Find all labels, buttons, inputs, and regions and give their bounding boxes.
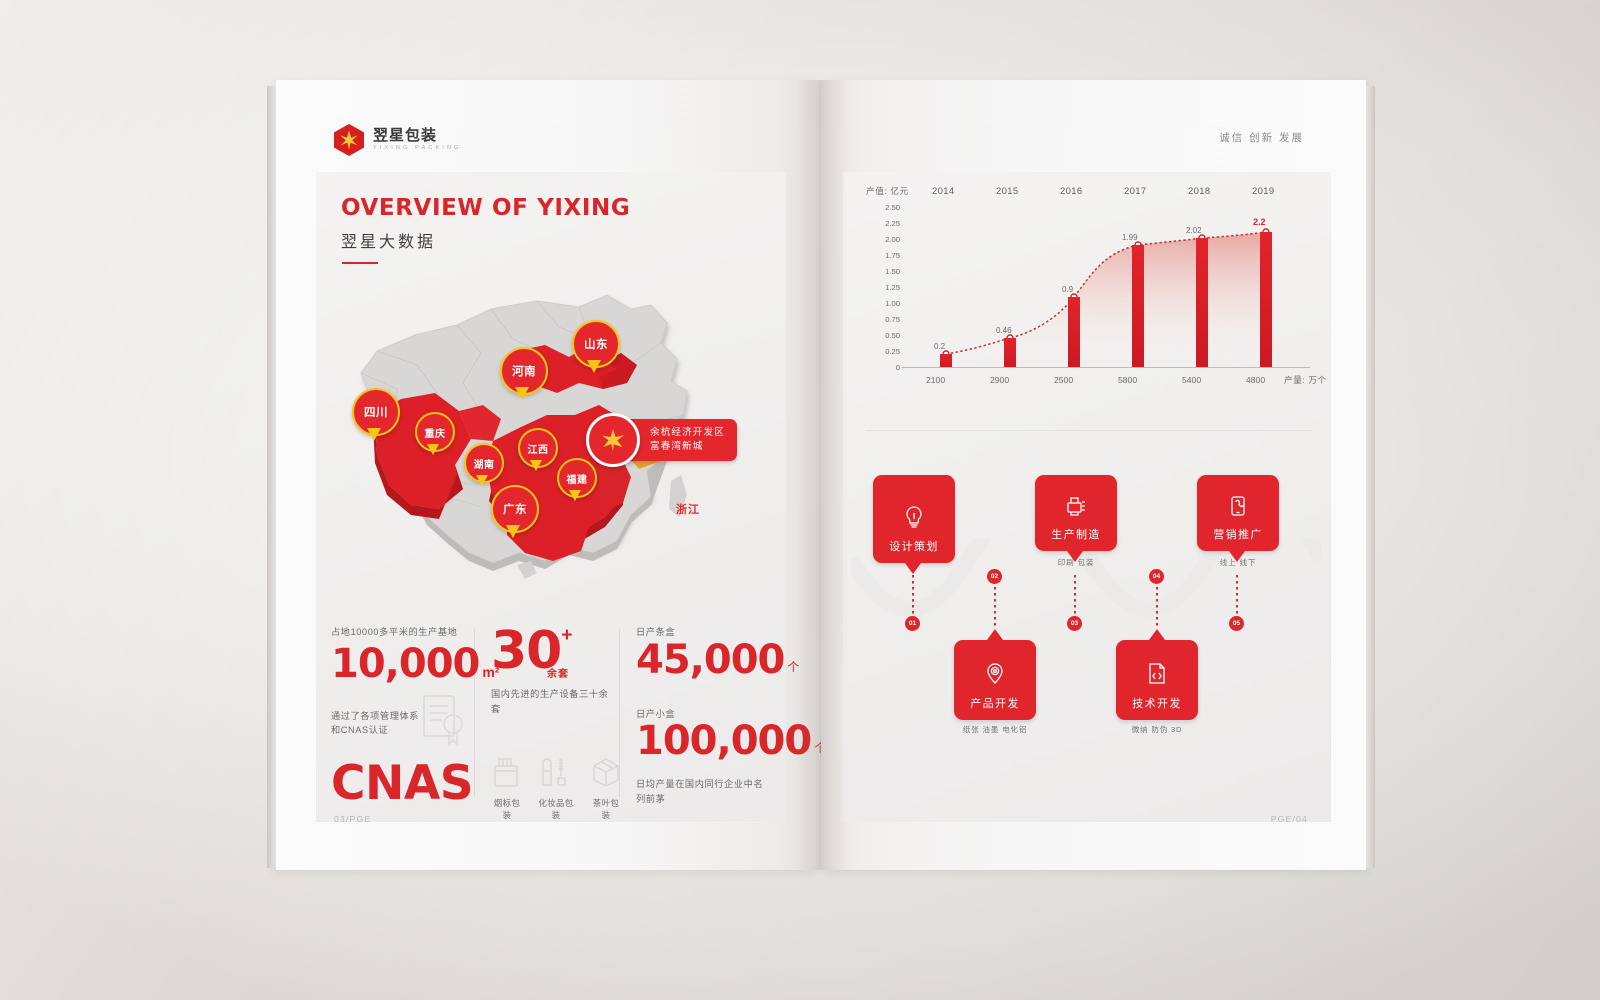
chart-plot-area — [906, 207, 1304, 367]
lipstick-icon — [537, 754, 575, 788]
hq-line-2: 富春湾新城 — [650, 440, 725, 454]
section-divider — [866, 430, 1311, 431]
chart-trend-svg — [906, 207, 1304, 367]
process-number-03: 03 — [1067, 616, 1082, 631]
pin-label: 江西 — [528, 441, 549, 456]
process-label: 设计策划 — [889, 538, 939, 563]
output-footnote: 日均产量在国内同行企业中名列前茅 — [636, 777, 771, 806]
title-underline — [342, 262, 378, 264]
process-connector-05 — [1236, 575, 1238, 617]
china-distribution-map[interactable]: 山东 河南 四川 重庆 湖南 江西 — [331, 265, 761, 610]
chart-year-2018: 2018 — [1188, 185, 1210, 196]
pin-label: 河南 — [512, 363, 536, 379]
chart-value-label-2016: 0.9 — [1062, 285, 1073, 294]
ytick-1-00: 1.00 — [866, 299, 900, 308]
product-item-cosmetic: 化妆品包装 — [537, 754, 575, 821]
process-connector-02 — [994, 587, 996, 629]
process-label: 产品开发 — [970, 695, 1020, 720]
process-label: 生产制造 — [1051, 526, 1101, 551]
location-star-icon — [586, 413, 640, 467]
product-item-tea: 茶叶包装 — [589, 754, 623, 821]
chart-output-2019: 4800 — [1246, 375, 1265, 385]
ytick-2-50: 2.50 — [866, 203, 900, 212]
cnas-badge: CNAS — [331, 760, 467, 807]
chart-output-2018: 5400 — [1182, 375, 1201, 385]
chart-ylabel: 产值: 亿元 — [866, 185, 909, 197]
map-pin-shandong[interactable]: 山东 — [572, 320, 616, 372]
pin-label: 四川 — [364, 404, 388, 420]
chart-value-label-2014: 0.2 — [934, 342, 945, 351]
chart-value-label-2018: 2.02 — [1186, 226, 1202, 235]
stat-unit-equipment: 余套 — [547, 665, 613, 680]
target-location-icon — [984, 662, 1006, 691]
hq-line-1: 余杭经济开发区 — [650, 426, 725, 440]
chart-year-2015: 2015 — [996, 185, 1018, 196]
stat-value-area: 10,000 — [331, 644, 479, 684]
chart-year-2016: 2016 — [1060, 185, 1082, 196]
product-label: 茶叶包装 — [589, 797, 623, 821]
brand-name-cn: 翌星包装 — [373, 128, 461, 143]
pin-label: 福建 — [567, 471, 588, 486]
chart-baseline — [902, 367, 1310, 368]
process-label: 技术开发 — [1132, 695, 1182, 720]
stat-superscript-plus: + — [561, 625, 572, 647]
output-unit-2: 个 — [814, 739, 821, 761]
hq-plate: 余杭经济开发区 富春湾新城 — [624, 419, 737, 461]
process-step-01[interactable]: 设计策划 — [873, 475, 955, 563]
stat-caption-equipment: 国内先进的生产设备三十余套 — [491, 687, 613, 716]
chart-year-2017: 2017 — [1124, 185, 1146, 196]
process-step-05[interactable]: 营销推广 — [1197, 475, 1279, 551]
map-pin-guangdong[interactable]: 广东 — [491, 485, 535, 537]
pin-label: 山东 — [584, 336, 608, 352]
process-number-05: 05 — [1229, 616, 1244, 631]
chart-value-label-2019: 2.2 — [1253, 217, 1266, 227]
process-step-02[interactable]: 产品开发 — [954, 640, 1036, 720]
pin-label: 湖南 — [474, 456, 495, 471]
output-unit-1: 个 — [787, 658, 799, 680]
chart-output-2015: 2900 — [990, 375, 1009, 385]
ytick-0-75: 0.75 — [866, 315, 900, 324]
output-value-2: 100,000 — [636, 721, 811, 761]
map-pin-chongqing[interactable]: 重庆 — [415, 412, 451, 456]
map-pin-henan[interactable]: 河南 — [500, 347, 544, 399]
process-number-04: 04 — [1149, 569, 1164, 584]
stat-card-output: 日产条盒 45,000 个 日产小盒 100,000 个 日均产量在国内同行企业… — [636, 625, 771, 807]
chart-output-2016: 2500 — [1054, 375, 1073, 385]
ytick-1-75: 1.75 — [866, 251, 900, 260]
hq-callout[interactable]: 余杭经济开发区 富春湾新城 — [586, 413, 737, 467]
ytick-0-50: 0.50 — [866, 331, 900, 340]
process-sub-05: 线上 线下 — [1197, 557, 1279, 568]
chart-year-2014: 2014 — [932, 185, 954, 196]
magazine-spread: 翌星包装 YIXING PACKING OVERVIEW OF YIXING 翌… — [276, 80, 1366, 870]
page-title-cn: 翌星大数据 — [341, 228, 436, 252]
pin-label: 重庆 — [425, 425, 446, 440]
process-step-03[interactable]: 生产制造 — [1035, 475, 1117, 551]
stat-card-equipment: 30 + 余套 国内先进的生产设备三十余套 — [491, 625, 613, 821]
chart-value-label-2015: 0.46 — [996, 326, 1012, 335]
certificate-icon — [419, 693, 471, 747]
ytick-0-25: 0.25 — [866, 347, 900, 356]
process-sub-03: 印刷 包装 — [1035, 557, 1117, 568]
header-slogan: 诚信 创新 发展 — [1219, 130, 1304, 145]
product-label: 烟标包装 — [491, 797, 523, 821]
right-page-edge — [1366, 86, 1375, 868]
map-pin-jiangxi[interactable]: 江西 — [518, 428, 554, 472]
star-glyph — [339, 129, 359, 151]
product-label: 化妆品包装 — [537, 797, 575, 821]
process-tail-01 — [905, 563, 921, 574]
ytick-1-50: 1.50 — [866, 267, 900, 276]
pin-label: 广东 — [503, 501, 527, 517]
statistics-band: 占地10000多平米的生产基地 10,000 m² 通过了各项管理体系 和CNA… — [331, 625, 766, 805]
output-value-1: 45,000 — [636, 640, 784, 680]
chart-output-2014: 2100 — [926, 375, 945, 385]
process-label: 营销推广 — [1213, 526, 1263, 551]
ytick-2-00: 2.00 — [866, 235, 900, 244]
process-connector-03 — [1074, 575, 1076, 617]
production-value-chart[interactable]: 产值: 亿元 2014 2015 2016 2017 2018 2019 2.5… — [866, 185, 1311, 400]
map-label-zhejiang: 浙江 — [676, 501, 700, 517]
process-tail-04 — [1149, 629, 1165, 640]
tea-box-icon — [589, 754, 623, 788]
stat-card-area: 占地10000多平米的生产基地 10,000 m² 通过了各项管理体系 和CNA… — [331, 625, 467, 807]
process-number-01: 01 — [905, 616, 920, 631]
left-page-edge — [267, 86, 276, 868]
brand-logo[interactable]: 翌星包装 YIXING PACKING — [334, 124, 461, 156]
print-machine-icon — [1065, 495, 1087, 522]
lightbulb-idea-icon — [903, 505, 925, 534]
chart-value-label-2017: 1.99 — [1122, 233, 1138, 242]
chart-xlabel: 产量: 万个 — [1284, 374, 1327, 386]
process-connector-01 — [912, 575, 914, 617]
product-icon-row: 烟标包装 化妆品包装 — [491, 754, 613, 821]
right-page: 诚信 创新 发展 产值: 亿元 2014 2015 2016 2017 2018… — [821, 80, 1366, 870]
hexagon-star-logo-icon — [334, 124, 364, 156]
code-document-icon — [1147, 662, 1167, 691]
process-tail-02 — [987, 629, 1003, 640]
process-connector-04 — [1156, 587, 1158, 629]
star-glyph — [600, 427, 626, 453]
map-pin-hunan[interactable]: 湖南 — [464, 443, 500, 487]
chart-output-2017: 5800 — [1118, 375, 1137, 385]
left-page: 翌星包装 YIXING PACKING OVERVIEW OF YIXING 翌… — [276, 80, 821, 870]
stat-caption-area: 占地10000多平米的生产基地 — [331, 625, 467, 640]
process-number-02: 02 — [987, 569, 1002, 584]
page-number-right: PGE/04 — [1271, 814, 1308, 824]
map-pin-sichuan[interactable]: 四川 — [352, 388, 396, 440]
ytick-1-25: 1.25 — [866, 283, 900, 292]
brand-name-en: YIXING PACKING — [373, 146, 461, 151]
page-title-en: OVERVIEW OF YIXING — [341, 195, 630, 221]
chart-year-2019: 2019 — [1252, 185, 1274, 196]
process-flow-diagram[interactable]: 设计策划 01 生产制造 印刷 包装 03 — [851, 465, 1321, 745]
ytick-2-25: 2.25 — [866, 219, 900, 228]
page-number-left: 03/PGE — [334, 814, 371, 824]
process-sub-02: 纸张 油墨 电化铝 — [943, 724, 1047, 735]
cigarette-pack-icon — [491, 754, 523, 788]
product-item-cigarette: 烟标包装 — [491, 754, 523, 821]
mobile-phone-icon — [1228, 495, 1248, 522]
process-sub-04: 微纳 防伪 3D — [1105, 724, 1209, 735]
ytick-0: 0 — [866, 363, 900, 372]
process-step-04[interactable]: 技术开发 — [1116, 640, 1198, 720]
